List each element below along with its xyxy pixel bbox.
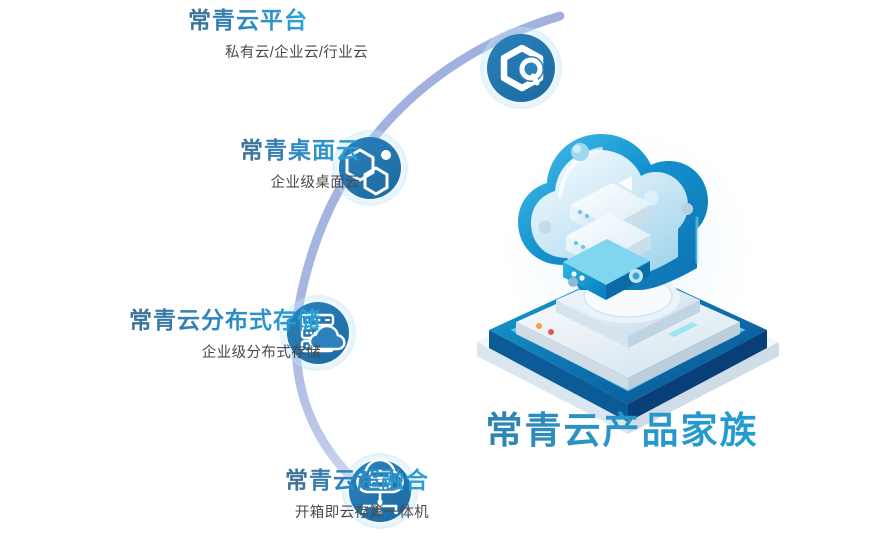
- node-label-desktop-cloud: 常青桌面云 企业级桌面云: [240, 136, 360, 192]
- infographic-canvas: 常青云平台 私有云/企业云/行业云 常青桌面云 企业级桌面云 常青云分布式存储 …: [0, 0, 869, 554]
- node-subtitle: 企业级分布式存储: [129, 344, 321, 362]
- node-subtitle: 企业级桌面云: [240, 174, 360, 192]
- node-subtitle: 开箱即云存算一体机: [285, 504, 429, 522]
- node-subtitle: 私有云/企业云/行业云: [188, 44, 368, 62]
- node-title: 常青云平台: [188, 6, 308, 35]
- node-title: 常青桌面云: [240, 136, 360, 165]
- node-title: 常青云超融合: [285, 466, 429, 495]
- labels-layer: 常青云平台 私有云/企业云/行业云 常青桌面云 企业级桌面云 常青云分布式存储 …: [0, 0, 869, 554]
- node-label-hyperconverged: 常青云超融合 开箱即云存算一体机: [285, 466, 429, 522]
- node-title: 常青云分布式存储: [129, 306, 321, 335]
- node-label-distributed-storage: 常青云分布式存储 企业级分布式存储: [129, 306, 321, 362]
- hero-title: 常青云产品家族: [462, 400, 782, 454]
- node-label-cloud-platform: 常青云平台 私有云/企业云/行业云: [188, 6, 308, 62]
